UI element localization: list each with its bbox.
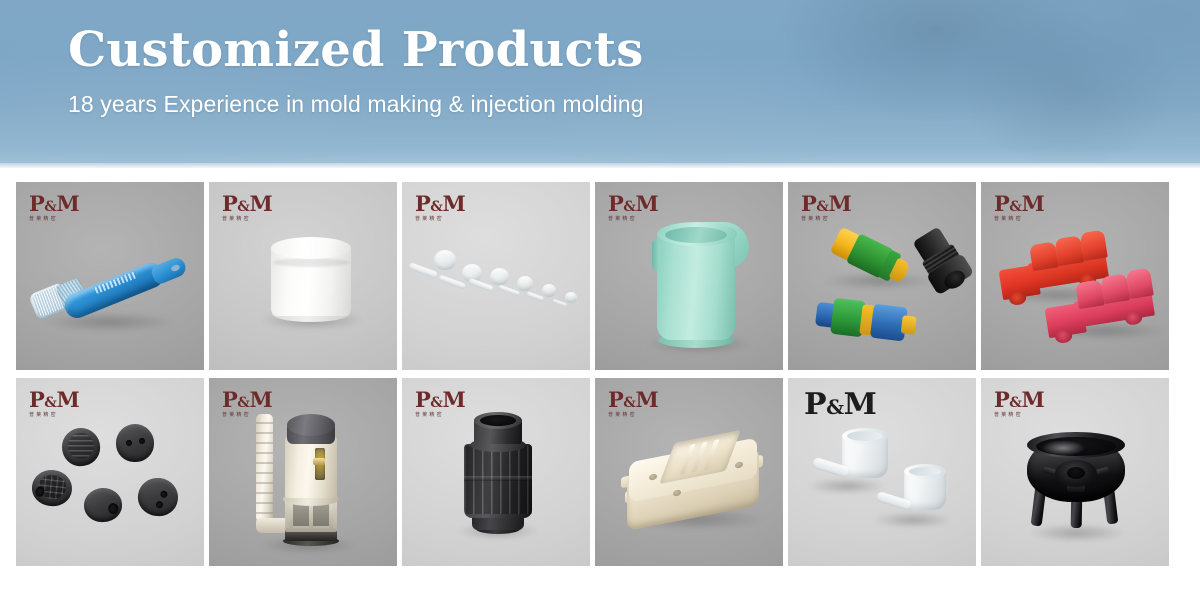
- valve-body: [285, 436, 337, 498]
- fitting-bore: [480, 415, 516, 426]
- watermark-chinese-text: 普莱精密: [29, 413, 79, 418]
- jar-seam: [273, 258, 349, 267]
- connector-blue-green: [814, 294, 922, 346]
- pitcher-interior: [665, 227, 727, 243]
- oval-cap-grid: [30, 468, 74, 508]
- product-tile-white-cylinder-jar[interactable]: P&M 普莱精密: [209, 182, 397, 370]
- valve-overflow-tube: [256, 414, 273, 522]
- watermark-chinese-text: 普莱精密: [801, 217, 851, 222]
- brush-grip: [150, 255, 189, 285]
- watermark-logo: P&M 普莱精密: [994, 389, 1044, 418]
- valve-adjust-button: [313, 458, 325, 465]
- product-tile-mint-green-pitcher[interactable]: P&M 普莱精密: [595, 182, 783, 370]
- watermark-logo: P&M 普莱精密: [801, 193, 851, 222]
- product-tile-white-measuring-scoops[interactable]: P&M: [788, 378, 976, 566]
- page-title: Customized Products: [68, 22, 644, 79]
- watermark-logo: P&M 普莱精密: [608, 193, 658, 222]
- watermark-logo: P&M 普莱精密: [415, 193, 465, 222]
- page-banner: Customized Products 18 years Experience …: [0, 0, 1200, 168]
- watermark-brand-text: P&M: [608, 193, 658, 214]
- connector-black: [894, 221, 976, 305]
- watermark-logo: P&M 普莱精密: [415, 389, 465, 418]
- valve-tube-elbow: [256, 518, 286, 533]
- oval-cap-ribbed: [58, 424, 103, 469]
- watermark-chinese-text: 普莱精密: [608, 217, 658, 222]
- watermark-chinese-text: 普莱精密: [415, 217, 465, 222]
- product-shadow-2: [874, 512, 952, 528]
- product-tile-beige-electrical-housing[interactable]: P&M 普莱精密: [595, 378, 783, 566]
- pitcher-handle: [652, 240, 660, 270]
- watermark-logo: P&M 普莱精密: [29, 193, 79, 222]
- product-tile-black-oval-caps[interactable]: P&M 普莱精密: [16, 378, 204, 566]
- watermark-chinese-text: 普莱精密: [29, 217, 79, 222]
- watermark-chinese-text: 普莱精密: [415, 413, 465, 418]
- watermark-brand-text: P&M: [29, 193, 79, 214]
- watermark-brand-text: P&M: [415, 193, 465, 214]
- product-tile-hose-quick-connectors[interactable]: P&M 普莱精密: [788, 182, 976, 370]
- watermark-logo: P&M 普莱精密: [222, 193, 272, 222]
- product-tile-blue-dispenser-brush[interactable]: P&M 普莱精密: [16, 182, 204, 370]
- watermark-brand-text: P&M: [415, 389, 465, 410]
- watermark-brand-text: P&M: [222, 193, 272, 214]
- watermark-chinese-text: 普莱精密: [994, 413, 1044, 418]
- watermark-brand-text: P&M: [29, 389, 79, 410]
- fitting-band: [464, 476, 532, 481]
- product-gallery-grid: P&M 普莱精密 P&M 普莱精密 P&M 普莱精密: [16, 182, 1186, 566]
- watermark-logo-large: P&M: [804, 390, 876, 420]
- watermark-chinese-text: 普莱精密: [608, 413, 658, 418]
- watermark-logo: P&M 普莱精密: [608, 389, 658, 418]
- product-tile-red-truck-molds[interactable]: P&M 普莱精密: [981, 182, 1169, 370]
- product-shadow: [808, 478, 886, 494]
- watermark-logo: P&M 普莱精密: [29, 389, 79, 418]
- watermark-logo: P&M 普莱精密: [994, 193, 1044, 222]
- product-tile-toilet-flush-valve[interactable]: P&M 普莱精密: [209, 378, 397, 566]
- watermark-brand-text: P&M: [801, 193, 851, 214]
- bowl-interior: [1036, 437, 1116, 456]
- product-tile-measuring-spoon-set[interactable]: P&M 普莱精密: [402, 182, 590, 370]
- watermark-chinese-text: 普莱精密: [994, 217, 1044, 222]
- oval-cap-two-hole-bottom: [136, 475, 181, 518]
- oval-cap-side-hole: [83, 487, 123, 524]
- page-subtitle: 18 years Experience in mold making & inj…: [68, 91, 644, 118]
- watermark-brand-text: P&M: [804, 390, 876, 420]
- banner-text-block: Customized Products 18 years Experience …: [68, 22, 644, 118]
- bowl-hub-center: [1067, 467, 1085, 479]
- watermark-brand-text: P&M: [222, 389, 272, 410]
- oval-cap-two-hole-top: [116, 424, 154, 462]
- jar-lid: [271, 237, 351, 259]
- watermark-brand-text: P&M: [994, 389, 1044, 410]
- pitcher-body: [657, 230, 735, 340]
- product-tile-black-ribbed-pipe-fitting[interactable]: P&M 普莱精密: [402, 378, 590, 566]
- product-shadow: [44, 312, 174, 332]
- watermark-brand-text: P&M: [994, 193, 1044, 214]
- watermark-chinese-text: 普莱精密: [222, 217, 272, 222]
- watermark-brand-text: P&M: [608, 389, 658, 410]
- valve-top-disc: [287, 414, 335, 436]
- product-tile-black-bowl-stand[interactable]: P&M 普莱精密: [981, 378, 1169, 566]
